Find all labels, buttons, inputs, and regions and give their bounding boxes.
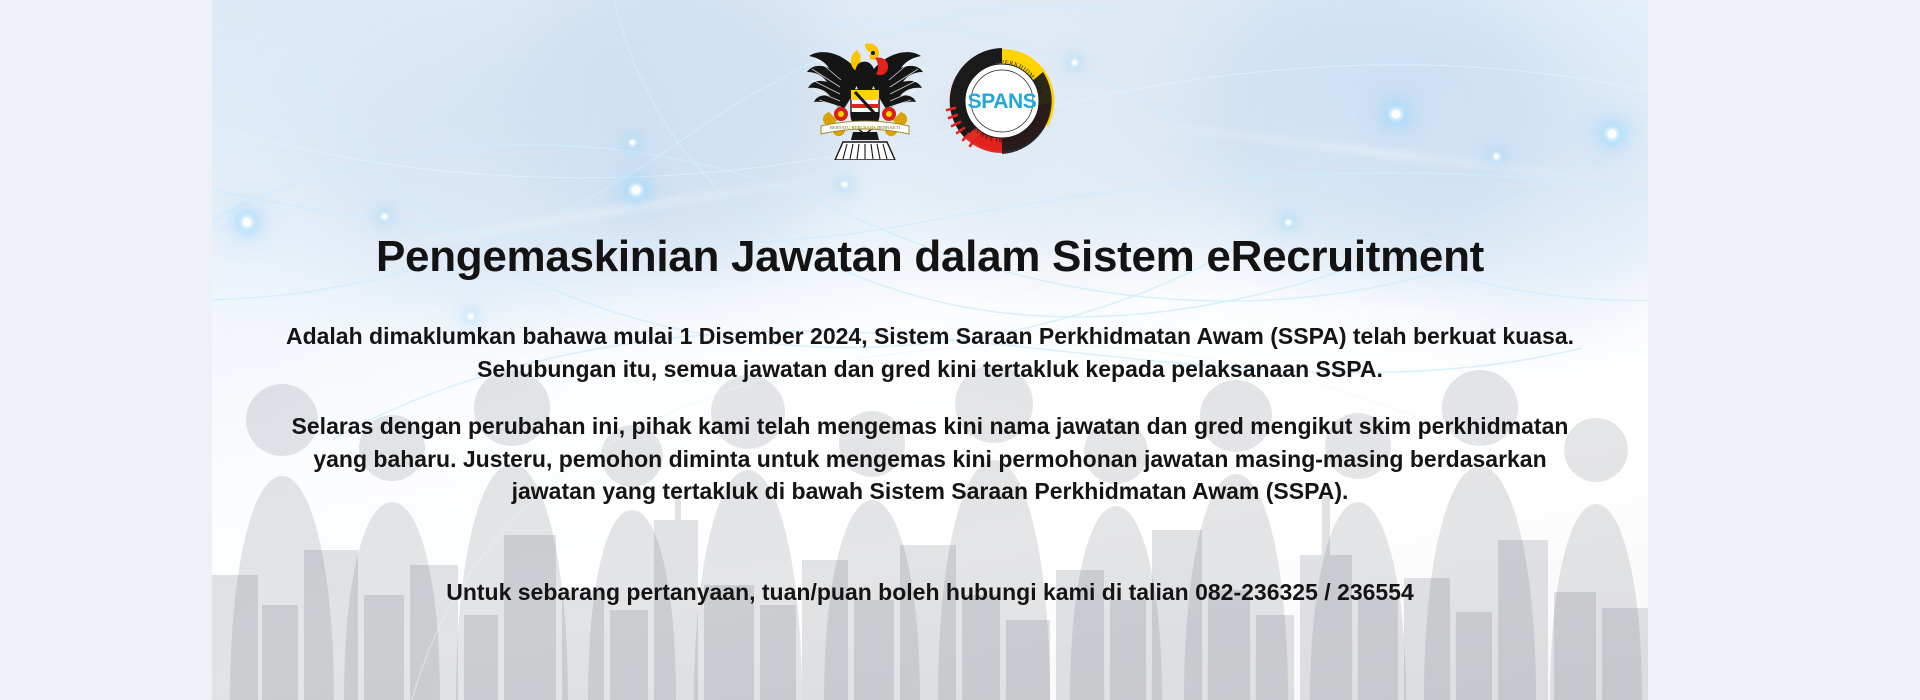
right-margin [1648,0,1920,700]
contact-line: Untuk sebarang pertanyaan, tuan/puan bol… [268,576,1592,609]
announcement-banner: BERSATU BERUSAHA BERBAKTI [212,0,1648,700]
announcement-paragraph-2: Selaras dengan perubahan ini, pihak kami… [268,410,1592,508]
announcement-paragraph-1: Adalah dimaklumkan bahawa mulai 1 Disemb… [268,320,1592,385]
page-title: Pengemaskinian Jawatan dalam Sistem eRec… [212,232,1648,283]
page-root: BERSATU BERUSAHA BERBAKTI [0,0,1920,700]
banner-text-content: Pengemaskinian Jawatan dalam Sistem eRec… [212,0,1648,700]
left-margin [0,0,212,700]
